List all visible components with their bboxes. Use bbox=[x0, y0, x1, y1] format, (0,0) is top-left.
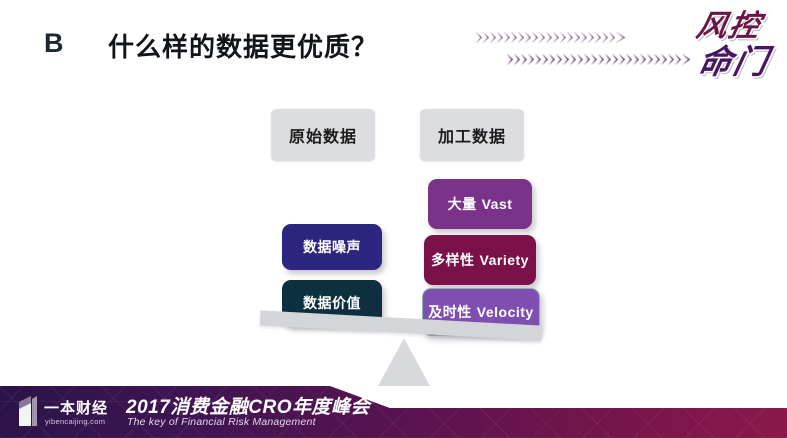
pill-data-noise: 数据噪声 bbox=[282, 224, 382, 270]
slide-section-letter: B bbox=[44, 28, 64, 59]
balance-seesaw bbox=[260, 318, 542, 344]
category-label-processed-data: 加工数据 bbox=[420, 109, 524, 161]
chevron-arrows-icon bbox=[474, 30, 634, 45]
brand-logo-line-2: 命门 bbox=[695, 45, 772, 78]
category-label-raw-data: 原始数据 bbox=[271, 109, 375, 161]
pill-vast-cn: 大量 bbox=[448, 194, 477, 214]
footer-brand-logo: 一本财经 yibencaijing.com bbox=[18, 394, 120, 432]
pill-vast: 大量 Vast bbox=[428, 179, 532, 229]
slide-header: B 什么样的数据更优质？ bbox=[0, 0, 787, 95]
yibencaijing-mark-icon bbox=[18, 396, 38, 426]
pill-variety: 多样性 Variety bbox=[424, 235, 536, 285]
footer-brand-name: 一本财经 bbox=[44, 397, 108, 418]
presentation-slide: B 什么样的数据更优质？ bbox=[0, 0, 787, 438]
pill-variety-cn: 多样性 bbox=[431, 250, 475, 270]
brand-logo: 风控 命门 bbox=[639, 12, 769, 84]
pill-vast-en: Vast bbox=[482, 196, 513, 212]
page-title: 什么样的数据更优质？ bbox=[108, 27, 378, 64]
footer-brand-url: yibencaijing.com bbox=[45, 417, 105, 426]
footer-event-title: 2017消费金融CRO年度峰会 bbox=[126, 392, 370, 419]
pill-variety-en: Variety bbox=[480, 252, 529, 268]
footer-event-subtitle: The key of Financial Risk Management bbox=[127, 416, 316, 428]
balance-fulcrum bbox=[378, 338, 430, 386]
brand-logo-line-1: 风控 bbox=[694, 12, 764, 42]
slide-footer: 一本财经 yibencaijing.com 2017消费金融CRO年度峰会 Th… bbox=[0, 386, 787, 438]
